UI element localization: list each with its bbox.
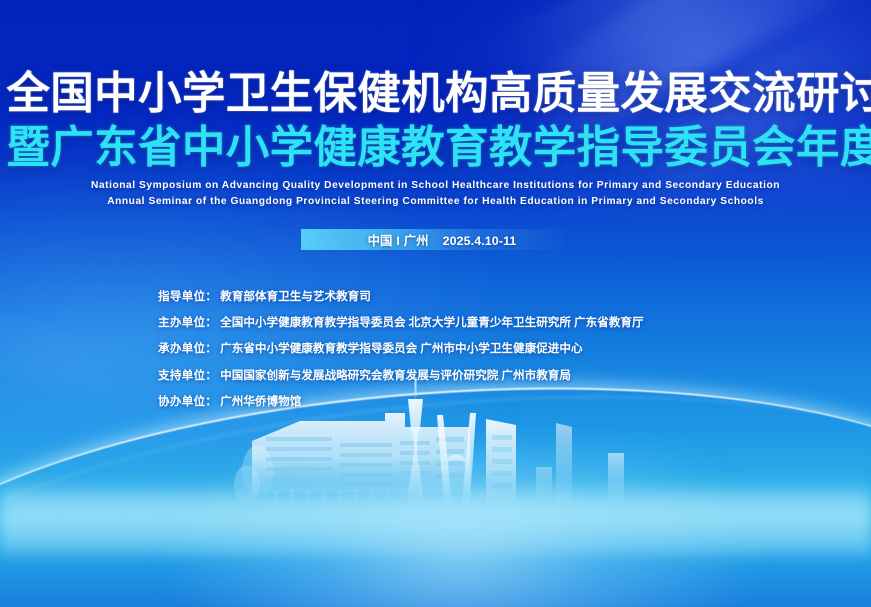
location-date-badge: 中国I广州2025.4.10-11 bbox=[301, 229, 565, 250]
organization-value-2: 北京大学儿童青少年卫生研究所 bbox=[409, 316, 571, 329]
organization-value-2: 广州市中小学卫生健康促进中心 bbox=[420, 342, 582, 355]
organization-label: 支持单位： bbox=[158, 369, 217, 382]
organization-row: 主办单位：全国中小学健康教育教学指导委员会北京大学儿童青少年卫生研究所广东省教育… bbox=[158, 317, 644, 329]
organization-row: 协办单位：广州华侨博物馆 bbox=[158, 396, 644, 408]
organization-label: 指导单位： bbox=[158, 290, 217, 303]
organization-value-3: 广东省教育厅 bbox=[574, 316, 644, 329]
main-title-line-1: 全国中小学卫生保健机构高质量发展交流研讨活动 bbox=[7, 72, 865, 116]
badge-separator: I bbox=[392, 234, 403, 248]
poster-content: 全国中小学卫生保健机构高质量发展交流研讨活动 暨广东省中小学健康教育教学指导委员… bbox=[0, 0, 871, 607]
organization-value: 广东省中小学健康教育教学指导委员会 bbox=[220, 342, 417, 355]
title-block: 全国中小学卫生保健机构高质量发展交流研讨活动 暨广东省中小学健康教育教学指导委员… bbox=[0, 72, 871, 170]
organization-label: 主办单位： bbox=[158, 316, 217, 329]
organization-row: 指导单位：教育部体育卫生与艺术教育司 bbox=[158, 291, 644, 303]
organization-value-2: 广州市教育局 bbox=[501, 369, 571, 382]
badge-city: 广州 bbox=[404, 234, 429, 248]
organization-value: 教育部体育卫生与艺术教育司 bbox=[220, 290, 371, 303]
badge-country: 中国 bbox=[368, 234, 393, 248]
organization-value: 中国国家创新与发展战略研究会教育发展与评价研究院 bbox=[220, 369, 498, 382]
organization-row: 支持单位：中国国家创新与发展战略研究会教育发展与评价研究院广州市教育局 bbox=[158, 370, 644, 382]
organization-value: 广州华侨博物馆 bbox=[220, 395, 301, 408]
organization-value: 全国中小学健康教育教学指导委员会 bbox=[220, 316, 406, 329]
organizations-list: 指导单位：教育部体育卫生与艺术教育司 主办单位：全国中小学健康教育教学指导委员会… bbox=[158, 291, 644, 422]
organization-label: 协办单位： bbox=[158, 395, 217, 408]
english-subtitle-line-2: Annual Seminar of the Guangdong Provinci… bbox=[0, 194, 871, 210]
organization-label: 承办单位： bbox=[158, 342, 217, 355]
english-subtitle: National Symposium on Advancing Quality … bbox=[0, 178, 871, 210]
main-title-line-2: 暨广东省中小学健康教育教学指导委员会年度研讨活动 bbox=[7, 126, 865, 170]
organization-row: 承办单位：广东省中小学健康教育教学指导委员会广州市中小学卫生健康促进中心 bbox=[158, 343, 644, 355]
location-date-text: 中国I广州2025.4.10-11 bbox=[350, 231, 517, 249]
badge-dates: 2025.4.10-11 bbox=[443, 234, 517, 248]
conference-poster: 全国中小学卫生保健机构高质量发展交流研讨活动 暨广东省中小学健康教育教学指导委员… bbox=[0, 0, 871, 607]
english-subtitle-line-1: National Symposium on Advancing Quality … bbox=[0, 178, 871, 194]
